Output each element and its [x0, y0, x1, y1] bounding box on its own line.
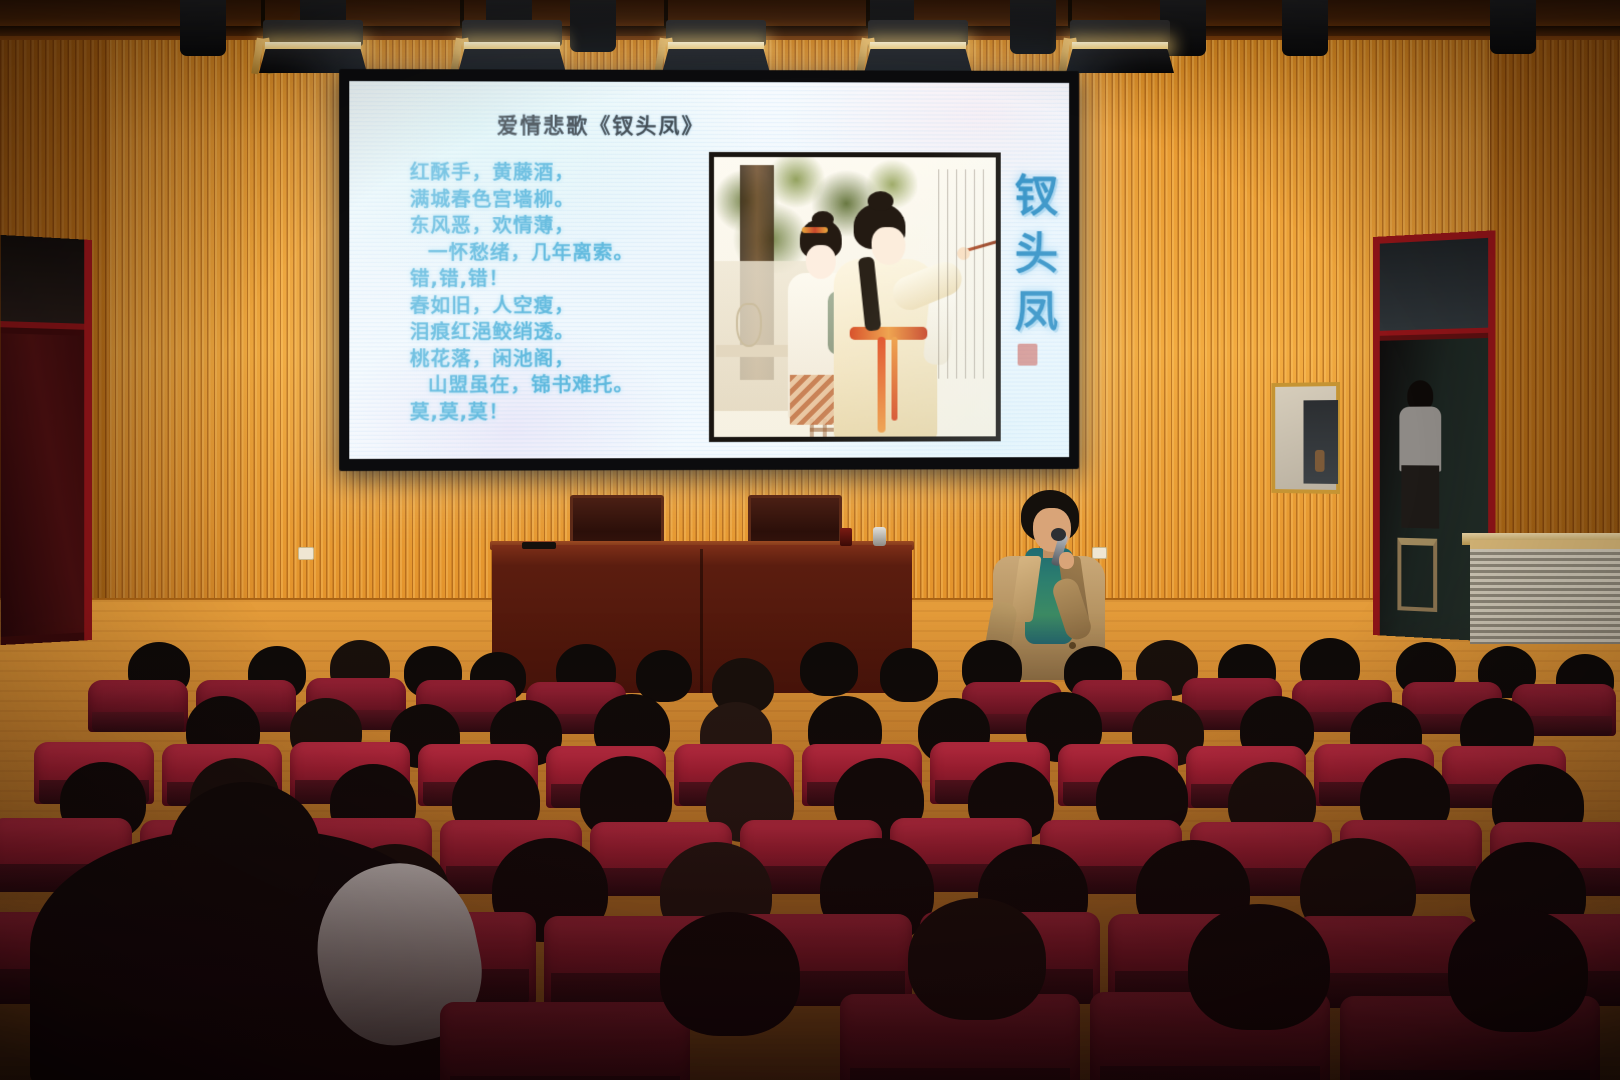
- poem-line: 桃花落，闲池阁，: [410, 346, 711, 373]
- poem-line: 满城春色宫墙柳。: [410, 186, 711, 213]
- poem-line: 一怀愁绪，几年离索。: [410, 239, 711, 266]
- par-can-light: [570, 0, 616, 52]
- window-glass: [1304, 400, 1339, 484]
- auditorium-scene: 爱情悲歌《钗头凤》 红酥手，黄藤酒， 满城春色宫墙柳。 东风恶，欢情薄， 一怀愁…: [0, 0, 1620, 1080]
- poem-line: 山盟虽在，锦书难托。: [410, 372, 711, 399]
- mobile-phone-on-table[interactable]: [522, 542, 556, 549]
- wall-outlet: [298, 547, 314, 560]
- par-can-light: [1010, 0, 1056, 54]
- projection-screen-frame: 爱情悲歌《钗头凤》 红酥手，黄藤酒， 满城春色宫墙柳。 东风恶，欢情薄， 一怀愁…: [339, 69, 1079, 471]
- left-doorway[interactable]: [0, 235, 92, 645]
- audience-seating-area: NG: [0, 612, 1620, 1080]
- par-can-light: [180, 0, 226, 56]
- calligraphy-title: 钗头凤: [1008, 168, 1065, 341]
- poem-line: 错,错,错！: [410, 266, 711, 293]
- par-can-light: [1490, 0, 1536, 54]
- slide-poem-text: 红酥手，黄藤酒， 满城春色宫墙柳。 东风恶，欢情薄， 一怀愁绪，几年离索。 错,…: [410, 160, 711, 426]
- left-door-opening: [0, 333, 84, 637]
- par-can-light: [1282, 0, 1328, 56]
- right-door-transom: [1380, 238, 1488, 336]
- wooden-stool: [1397, 538, 1437, 612]
- teacup-on-table[interactable]: [840, 528, 852, 546]
- painting-inscription: [938, 169, 990, 378]
- water-cup-on-table[interactable]: [873, 527, 886, 546]
- projection-screen: 爱情悲歌《钗头凤》 红酥手，黄藤酒， 满城春色宫墙柳。 东风恶，欢情薄， 一怀愁…: [349, 81, 1069, 459]
- audience-shadow-overlay: [0, 612, 1620, 1080]
- painting-vase: [736, 303, 762, 347]
- poem-line: 泪痕红浥鲛绡透。: [410, 319, 711, 346]
- poem-line: 莫,莫,莫！: [410, 399, 711, 426]
- poem-line: 红酥手，黄藤酒，: [410, 160, 711, 187]
- seated-person-in-doorway: [1399, 380, 1441, 533]
- painting-man-figure: [832, 203, 951, 437]
- slide-title: 爱情悲歌《钗头凤》: [410, 109, 791, 140]
- microphone-head: [1051, 528, 1066, 541]
- classical-painting-image: [709, 152, 1001, 442]
- poem-line: 春如旧，人空瘦，: [410, 293, 711, 320]
- poem-line: 东风恶，欢情薄，: [410, 213, 711, 240]
- wall-window: [1271, 382, 1340, 494]
- ceiling-lighting-rail: [0, 26, 1620, 36]
- red-seal-stamp: [1018, 344, 1038, 366]
- left-door-transom: [0, 235, 84, 330]
